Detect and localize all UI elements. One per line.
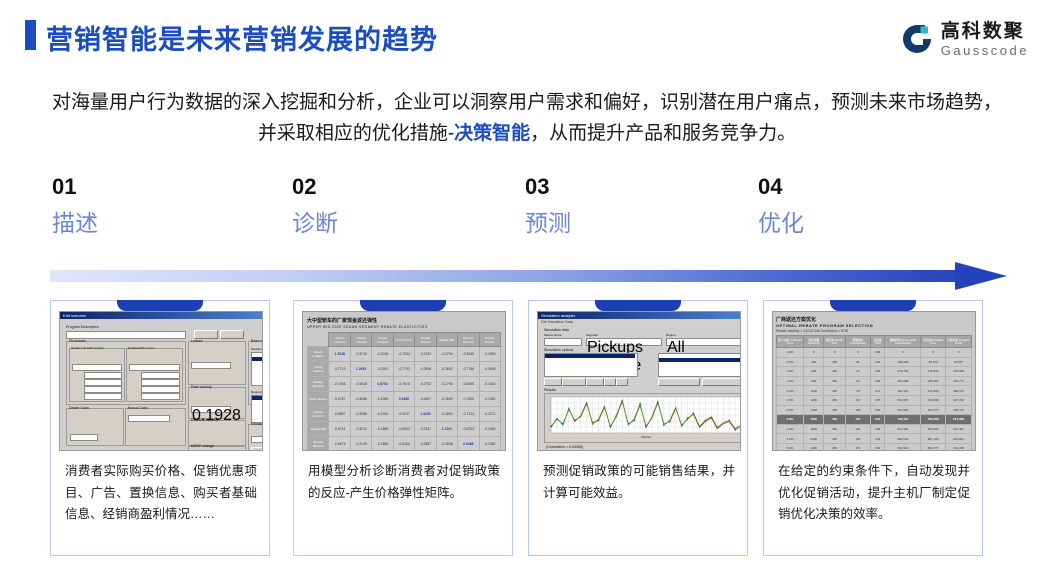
- table-cell: -0.7254: [393, 347, 414, 362]
- table-cell: 271: [870, 386, 885, 396]
- table-cell: 191,038: [946, 443, 972, 451]
- table-row: 0.5%40045031224180,32989,67290,657: [777, 357, 972, 367]
- page-header: 营销智能是未来营销发展的趋势 高科数聚 Gausscode: [0, 0, 1051, 72]
- table-cell: 600: [804, 367, 824, 377]
- table-row: Honda Accord-0.5897-0.3986-0.1942-0.5247…: [308, 407, 501, 422]
- group-label-models: Model(s): [251, 347, 263, 351]
- card-caption: 消费者实际购买价格、促销优惠项目、广告、置换信息、购买者基础信息、经销商盈利情况…: [65, 461, 257, 526]
- table-row: 1.0%60045047240275,754149,842126,500: [777, 367, 972, 377]
- step-number: 04: [758, 176, 804, 198]
- table-cell: 0.6488: [458, 437, 479, 452]
- table-cell: 1.2633: [350, 362, 371, 377]
- table-cell: 450: [824, 376, 845, 386]
- gausscode-logo-icon: [900, 22, 934, 56]
- table-cell: 0: [824, 348, 845, 358]
- table-cell: -0.3986: [350, 407, 371, 422]
- rate-subsidy-value[interactable]: 0.1928: [191, 406, 231, 413]
- page-title: 营销智能是未来营销发展的趋势: [46, 18, 438, 57]
- table-cell: -0.2794: [436, 377, 457, 392]
- table-cell: 450: [824, 405, 845, 415]
- table-cell: 1.0%: [777, 367, 804, 377]
- table-cell: -0.2271: [479, 407, 501, 422]
- table-cell: -0.3149: [350, 437, 371, 452]
- table-cell: -0.2893: [436, 407, 457, 422]
- table-row: Chevy Lumina-0.77131.2633-0.1991-0.7793-…: [308, 362, 501, 377]
- label-region: Region: [666, 333, 676, 337]
- step-label: 描述: [52, 212, 98, 235]
- table-cell: 402,375: [921, 405, 946, 415]
- table-cell: 1.1291: [436, 422, 457, 437]
- table-cell: -0.7793: [393, 362, 414, 377]
- label-segment: Segment: [586, 333, 598, 337]
- table-cell: 212,467: [946, 424, 972, 434]
- group-label-residual-subsidy: Residual subsidy: [191, 418, 218, 422]
- bonus-cash-input[interactable]: [128, 415, 170, 422]
- term-24-input[interactable]: [84, 372, 122, 379]
- card-tab: [360, 300, 446, 311]
- card-predict[interactable]: Simulation analysis File Simulation Tool…: [528, 300, 748, 556]
- table-row: 4.0%1800450140333812,381599,906212,467: [777, 424, 972, 434]
- group-residual-subsidy: [188, 420, 246, 446]
- col-header: 客户价格 Customer Price: [777, 336, 804, 348]
- select-all-button[interactable]: [658, 378, 700, 386]
- col-header: Nissan Maxima: [458, 333, 479, 347]
- col-header: Dodge Intrepid: [372, 333, 393, 347]
- row-header: Ford Taurus: [308, 392, 329, 407]
- table-cell: 801,871: [921, 443, 946, 451]
- table-cell: 5.0%: [777, 443, 804, 451]
- table-row: 5.0%2200450171364992,910801,871191,038: [777, 443, 972, 451]
- table-cell: -0.1942: [372, 407, 393, 422]
- table-cell: 1.3252: [415, 407, 436, 422]
- table-cell: 1000: [804, 386, 824, 396]
- program-description-input[interactable]: [66, 331, 186, 339]
- table-cell: 171: [845, 443, 870, 451]
- group-label-program-description: Program Description: [66, 325, 99, 329]
- card-diagnose[interactable]: 大中型轿车的厂家现金返还弹性 UPPER MID-SIZE SEDAN SEGM…: [293, 300, 513, 556]
- table-cell: -0.8764: [458, 422, 479, 437]
- card-tab: [830, 300, 916, 311]
- table-cell: -0.2806: [415, 362, 436, 377]
- table-cell: -0.6904: [393, 422, 414, 437]
- label-market-share: Market share: [544, 333, 562, 337]
- col-header: Mazda 626: [436, 333, 457, 347]
- edit-button[interactable]: [586, 378, 604, 386]
- table-cell: -0.6362: [393, 437, 414, 452]
- table-cell: 156: [845, 434, 870, 444]
- simulation-option-selected: [545, 354, 635, 358]
- table-cell: 400: [804, 357, 824, 367]
- table-row: 0.0%000209000: [777, 348, 972, 358]
- step-04: 04 优化: [758, 176, 804, 235]
- table-cell: 450: [824, 386, 845, 396]
- table-row: 2.0%100045078271451,323272,949180,374: [777, 386, 972, 396]
- table-cell: 275,754: [885, 367, 921, 377]
- table-cell: -0.8490: [458, 377, 479, 392]
- table-cell: 197,741: [946, 395, 972, 405]
- row-header: Dodge Intrepid: [308, 377, 329, 392]
- step-number: 02: [292, 176, 338, 198]
- term-60-input[interactable]: [84, 393, 122, 400]
- region-select[interactable]: All Regions: [666, 338, 741, 346]
- col-header: 总销量 Total: [870, 336, 885, 348]
- table-cell: 302: [870, 405, 885, 415]
- col-header: Chevy Lumina: [350, 333, 371, 347]
- table-cell: 255: [870, 376, 885, 386]
- paragraph-highlight: 决策智能: [454, 123, 530, 144]
- card-optimize[interactable]: 厂商返还方案优化 OPTIMAL REBATE PROGRAM SELECTIO…: [763, 300, 983, 556]
- window-titlebar: Edit scenario: [60, 312, 262, 319]
- table-cell: -0.2702: [415, 377, 436, 392]
- optimal-rebate-table: 客户价格 Customer Price 返还金额 Rebate $ 返还率 Re…: [776, 335, 972, 451]
- correlation-text: (Correlation = 0.94339): [546, 445, 583, 449]
- group-label-msrp-change: MSRP change: [191, 444, 214, 448]
- regions-selected-item: [252, 396, 263, 400]
- table-cell: 631,852: [885, 405, 921, 415]
- table-cell: 2.5%: [777, 395, 804, 405]
- table-row: Buick LeSabre1.1548-0.3742-0.2018-0.7254…: [308, 347, 501, 362]
- table-cell: 208,287: [921, 376, 946, 386]
- optimal-subtitle: Rebate elasticity = 0.8712 Unit Contribu…: [776, 329, 972, 333]
- table-cell: 992,910: [885, 443, 921, 451]
- card-caption: 用模型分析诊断消费者对促销政策的反应-产生价格弹性矩阵。: [308, 461, 500, 504]
- table-cell: -0.5897: [329, 407, 350, 422]
- table-cell: 4.0%: [777, 424, 804, 434]
- step-labels: 01 描述 02 诊断 03 预测 04 优化: [52, 176, 1002, 246]
- term-36-input[interactable]: [84, 379, 122, 386]
- table-cell: -0.2018: [372, 347, 393, 362]
- table-cell: 272,949: [921, 386, 946, 396]
- table-cell: 0: [804, 348, 824, 358]
- label-results: Results: [544, 388, 556, 392]
- table-cell: 126,500: [946, 367, 972, 377]
- table-cell: -0.1991: [372, 362, 393, 377]
- table-cell: 125: [845, 415, 870, 425]
- row-header: Chevy Lumina: [308, 362, 329, 377]
- table-cell: 0: [885, 348, 921, 358]
- table-cell: -0.1960: [372, 392, 393, 407]
- table-cell: -0.2192: [415, 347, 436, 362]
- table-cell: 89,672: [921, 357, 946, 367]
- logo-text-en: Gausscode: [941, 44, 1029, 57]
- results-chart-panel: Dodge Dakota sim Dodge Dakota actual Vol…: [544, 393, 741, 443]
- table-cell: -0.2669: [436, 392, 457, 407]
- table-cell: 0.5%: [777, 357, 804, 367]
- col-header: 增量成本 Incremental: [845, 336, 870, 348]
- table-cell: -0.6787: [329, 392, 350, 407]
- table-cell: -0.1869: [372, 437, 393, 452]
- table-cell: -0.3588: [350, 392, 371, 407]
- col-header: Toyota Camry: [479, 333, 501, 347]
- step-number: 03: [525, 176, 571, 198]
- step-label: 预测: [525, 212, 571, 235]
- table-cell: 90,657: [946, 357, 972, 367]
- table-cell: -0.2857: [415, 437, 436, 452]
- table-cell: -0.1602: [479, 377, 501, 392]
- table-cell: -0.7766: [458, 362, 479, 377]
- table-cell: 0.9480: [393, 392, 414, 407]
- table-cell: 240: [870, 367, 885, 377]
- table-cell: -0.7713: [329, 362, 350, 377]
- table-cell: 140: [845, 424, 870, 434]
- group-label-dealer-cash: Dealer Cash: [69, 406, 89, 410]
- table-cell: 2200: [804, 443, 824, 451]
- group-label-rebate-apr-combo: Rebate/APR combo: [128, 346, 155, 350]
- step-03: 03 预测: [525, 176, 571, 235]
- table-cell: 349: [870, 434, 885, 444]
- paragraph-part-2: ，从而提升产品和服务竞争力。: [530, 123, 796, 144]
- table-cell: 0: [845, 348, 870, 358]
- table-cell: 364: [870, 443, 885, 451]
- segment-select[interactable]: Pickups Midsize: [586, 338, 662, 346]
- step-02: 02 诊断: [292, 176, 338, 235]
- table-cell: 62: [845, 376, 870, 386]
- table-cell: 0: [921, 348, 946, 358]
- table-cell: 722,116: [885, 415, 921, 425]
- table-row: Ford Taurus-0.6787-0.3588-0.19600.9480-0…: [308, 392, 501, 407]
- table-cell: 1800: [804, 424, 824, 434]
- screenshot-optimal-rebate: 厂商返还方案优化 OPTIMAL REBATE PROGRAM SELECTIO…: [772, 311, 976, 451]
- table-cell: 109: [845, 405, 870, 415]
- row-header: Honda Accord: [308, 407, 329, 422]
- table-cell: -0.7500: [458, 392, 479, 407]
- table-cell: -0.2697: [415, 392, 436, 407]
- table-cell: 687,195: [921, 434, 946, 444]
- screenshot-edit-scenario: Edit scenario Program Description Purcha…: [59, 311, 263, 451]
- table-cell: 333: [870, 424, 885, 434]
- table-row: Mazda 626-0.6744-0.3210-0.1895-0.6904-0.…: [308, 422, 501, 437]
- step-number: 01: [52, 176, 98, 198]
- clear-all-button[interactable]: [702, 378, 741, 386]
- table-cell: 800: [804, 376, 824, 386]
- models-selected-item: [252, 357, 263, 361]
- card-tab: [117, 300, 203, 311]
- term-48-rate-select[interactable]: [141, 386, 180, 393]
- table-cell: 287: [870, 395, 885, 405]
- card-row: Edit scenario Program Description Purcha…: [0, 300, 1051, 560]
- table-cell: 2.0%: [777, 386, 804, 396]
- table-cell: 2000: [804, 434, 824, 444]
- market-share-select[interactable]: [544, 338, 582, 346]
- group-label-rate-subsidy: Rate subsidy: [191, 385, 212, 389]
- group-label-rebate-apr-subsidy: Rebate OR APR subsidy: [71, 346, 104, 350]
- table-row: Nissan Maxima-0.6673-0.3149-0.1869-0.636…: [308, 437, 501, 452]
- label-simulation-options: Simulation options: [544, 348, 573, 352]
- table-cell: 812,381: [885, 424, 921, 434]
- table-cell: 541,587: [885, 395, 921, 405]
- models-listbox[interactable]: [658, 353, 741, 377]
- table-cell: 208,473: [946, 405, 972, 415]
- matrix-title-cn: 大中型轿车的厂家现金返还弹性: [307, 317, 501, 324]
- intro-paragraph: 对海量用户行为数据的深入挖掘和分析，企业可以洞察用户需求和偏好，识别潜在用户痛点…: [52, 88, 1002, 150]
- row-header: Buick LeSabre: [308, 347, 329, 362]
- table-cell: 1.5%: [777, 376, 804, 386]
- term-36-rate-select[interactable]: [141, 379, 180, 386]
- term-48-input[interactable]: [84, 386, 122, 393]
- table-cell: -0.6673: [329, 437, 350, 452]
- col-header: Honda Accord: [415, 333, 436, 347]
- table-cell: -0.1962: [479, 392, 501, 407]
- table-row: 3.5%1600450125318722,116469,398213,398: [777, 415, 972, 425]
- arrow-body: [50, 270, 970, 282]
- table-cell: 3.0%: [777, 405, 804, 415]
- window-titlebar: Simulation analysis: [538, 312, 740, 319]
- step-01: 01 描述: [52, 176, 98, 235]
- table-row: 2.5%120045094287541,587342,846197,741: [777, 395, 972, 405]
- table-cell: 152,771: [946, 376, 972, 386]
- group-label-rebase-incentives: Rebase incentives: [251, 422, 263, 426]
- table-cell: -0.1808: [479, 362, 501, 377]
- table-cell: -0.2337: [415, 422, 436, 437]
- close-button[interactable]: [220, 330, 244, 339]
- table-cell: -0.7510: [393, 377, 414, 392]
- table-cell: 78: [845, 386, 870, 396]
- table-cell: 31: [845, 357, 870, 367]
- dealer-cash-input[interactable]: [70, 434, 98, 441]
- table-cell: -0.5247: [393, 407, 414, 422]
- card-caption: 在给定的约束条件下，自动发现并优化促销活动，提升主机厂制定促销优化决策的效率。: [778, 461, 970, 526]
- table-header-row: Buick LeSabre Chevy Lumina Dodge Intrepi…: [308, 333, 501, 347]
- table-cell: -0.1965: [479, 422, 501, 437]
- col-header: 返还成本 Rebate Cost: [921, 336, 946, 348]
- table-cell: -0.7264: [329, 377, 350, 392]
- table-row: 3.0%1400450109302631,852402,375208,473: [777, 405, 972, 415]
- table-cell: 450: [824, 357, 845, 367]
- step-label: 诊断: [292, 212, 338, 235]
- table-cell: 180,374: [946, 386, 972, 396]
- table-cell: 3.5%: [777, 415, 804, 425]
- table-cell: -0.1895: [372, 422, 393, 437]
- table-cell: 342,846: [921, 395, 946, 405]
- table-cell: -0.2794: [436, 347, 457, 362]
- table-cell: 450: [824, 434, 845, 444]
- rebase-model-select[interactable]: [251, 436, 263, 443]
- label-simulation-data: Simulation data: [544, 328, 569, 332]
- matrix-title-en: UPPER MID-SIZE SEDAN SEGMENT REBATE ELAS…: [307, 325, 501, 329]
- lease-cash-input[interactable]: [191, 362, 231, 369]
- table-cell: -0.2602: [436, 362, 457, 377]
- card-tab: [595, 300, 681, 311]
- table-cell: 450: [824, 395, 845, 405]
- table-cell: -0.3928: [350, 377, 371, 392]
- table-cell: -0.3742: [350, 347, 371, 362]
- table-cell: 180,329: [885, 357, 921, 367]
- table-cell: 4.5%: [777, 434, 804, 444]
- table-cell: 209: [870, 348, 885, 358]
- table-cell: 149,842: [921, 367, 946, 377]
- col-header: 返还率 Rebate Rate: [824, 336, 845, 348]
- table-cell: -0.8340: [458, 347, 479, 362]
- group-label-purchases: Purchases: [69, 339, 86, 343]
- table-row: Dodge Intrepid-0.7264-0.39280.8752-0.751…: [308, 377, 501, 392]
- window-menubar: File Simulation Tools: [538, 319, 740, 325]
- table-cell: 469,398: [921, 415, 946, 425]
- brand-logo: 高科数聚 Gausscode: [900, 16, 1029, 62]
- table-cell: -0.1982: [479, 437, 501, 452]
- row-header: Nissan Maxima: [308, 437, 329, 452]
- rebate-select[interactable]: [72, 364, 122, 371]
- table-cell: -0.2838: [436, 437, 457, 452]
- optimal-title-en: OPTIMAL REBATE PROGRAM SELECTION: [776, 323, 972, 328]
- table-cell: 450: [824, 415, 845, 425]
- group-label-bonus-cash: Bonus Cash: [128, 406, 148, 410]
- table-cell: 451,323: [885, 386, 921, 396]
- optimal-title-cn: 厂商返还方案优化: [776, 316, 972, 323]
- add-button[interactable]: [544, 378, 562, 386]
- table-cell: 213,398: [946, 415, 972, 425]
- row-header: Mazda 626: [308, 422, 329, 437]
- move-down-button[interactable]: [616, 378, 628, 386]
- logo-text-cn: 高科数聚: [941, 22, 1029, 41]
- table-cell: -0.1896: [479, 347, 501, 362]
- move-up-button[interactable]: [604, 378, 616, 386]
- group-label-base-incentives: Base incentives: [251, 339, 263, 343]
- table-header-row: 客户价格 Customer Price 返还金额 Rebate $ 返还率 Re…: [777, 336, 972, 348]
- screenshot-simulation: Simulation analysis File Simulation Tool…: [537, 311, 741, 451]
- save-button[interactable]: [194, 330, 218, 339]
- screenshot-elasticity-matrix: 大中型轿车的厂家现金返还弹性 UPPER MID-SIZE SEDAN SEGM…: [302, 311, 506, 451]
- remove-button[interactable]: [562, 378, 586, 386]
- table-cell: 902,645: [885, 434, 921, 444]
- elasticity-table: Buick LeSabre Chevy Lumina Dodge Intrepi…: [307, 332, 501, 451]
- table-cell: 94: [845, 395, 870, 405]
- models-selected-item: [659, 358, 741, 362]
- table-cell: 1600: [804, 415, 824, 425]
- table-cell: 204,801: [946, 434, 972, 444]
- table-cell: 224: [870, 357, 885, 367]
- table-cell: 0: [946, 348, 972, 358]
- col-header: 方案利润 Program Profit: [946, 336, 972, 348]
- progress-arrow: [50, 262, 1010, 290]
- step-label: 优化: [758, 212, 804, 235]
- table-cell: 450: [824, 367, 845, 377]
- axis-label-volume: Volume: [641, 435, 651, 439]
- table-cell: 450: [824, 443, 845, 451]
- title-accent-bar: [25, 20, 36, 50]
- table-cell: 1400: [804, 405, 824, 415]
- table-cell: -0.3210: [350, 422, 371, 437]
- table-cell: 47: [845, 367, 870, 377]
- clear-button[interactable]: [251, 447, 263, 451]
- col-header: 增量利润 Incremental Contribution: [885, 336, 921, 348]
- table-cell: -0.7314: [458, 407, 479, 422]
- card-caption: 预测促销政策的可能销售结果，并计算可能效益。: [543, 461, 735, 504]
- table-cell: -0.6744: [329, 422, 350, 437]
- group-bonus-cash: [125, 408, 186, 446]
- table-row: 1.5%80045062255361,088208,287152,771: [777, 376, 972, 386]
- card-describe[interactable]: Edit scenario Program Description Purcha…: [50, 300, 270, 556]
- col-header: 返还金额 Rebate $: [804, 336, 824, 348]
- term-60-rate-select[interactable]: [141, 393, 180, 400]
- table-cell: 0.0%: [777, 348, 804, 358]
- table-cell: 1.1548: [329, 347, 350, 362]
- table-cell: 1200: [804, 395, 824, 405]
- arrow-head-icon: [955, 262, 1007, 290]
- term-24-rate-select[interactable]: [141, 372, 180, 379]
- table-row: 4.5%2000450156349902,645687,195204,801: [777, 434, 972, 444]
- group-label-leases: Leases: [191, 339, 203, 343]
- table-cell: 0.8752: [372, 377, 393, 392]
- combo-select[interactable]: [129, 364, 180, 371]
- table-cell: 599,906: [921, 424, 946, 434]
- col-header: Buick LeSabre: [329, 333, 350, 347]
- group-label-regions: Region(s): [251, 390, 263, 394]
- col-header: Ford Taurus: [393, 333, 414, 347]
- table-cell: 361,088: [885, 376, 921, 386]
- table-cell: 450: [824, 424, 845, 434]
- table-cell: 318: [870, 415, 885, 425]
